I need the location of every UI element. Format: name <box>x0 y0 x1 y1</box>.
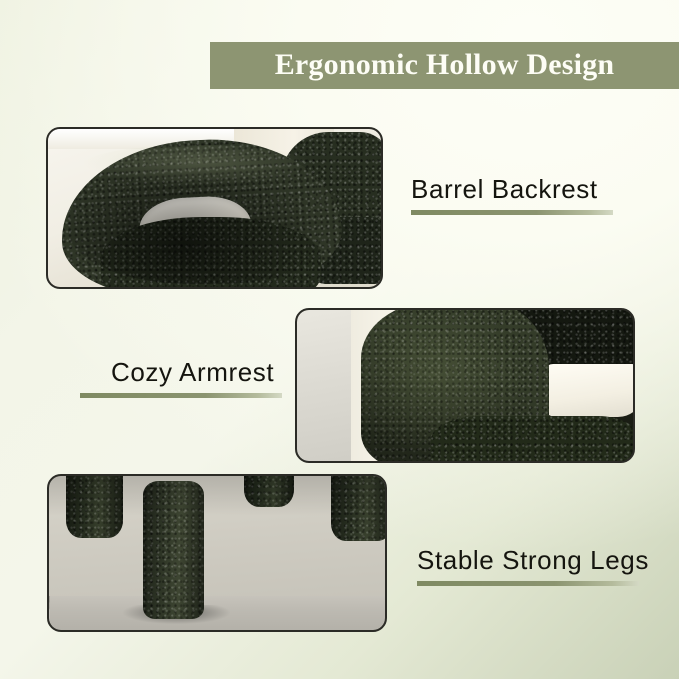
chair-leg-right <box>331 476 385 541</box>
chair-seat-base <box>431 416 633 461</box>
feature-label-text: Barrel Backrest <box>411 175 613 204</box>
photo-scene-armrest <box>297 310 633 461</box>
chair-leg-back-right <box>244 476 294 507</box>
chair-seat <box>101 217 321 287</box>
armrest-hollow-gap <box>539 364 633 417</box>
infographic-canvas: Ergonomic Hollow Design Barrel Backrest <box>0 0 679 679</box>
feature-label-cozy-armrest: Cozy Armrest <box>111 358 282 398</box>
header-band: Ergonomic Hollow Design <box>210 42 679 89</box>
feature-photo-barrel-backrest <box>46 127 383 289</box>
feature-label-barrel-backrest: Barrel Backrest <box>411 175 613 215</box>
chair-leg-front <box>143 481 203 620</box>
page-title: Ergonomic Hollow Design <box>275 50 615 82</box>
feature-label-text: Cozy Armrest <box>111 358 282 387</box>
feature-label-underline <box>80 393 282 398</box>
feature-label-stable-strong-legs: Stable Strong Legs <box>417 546 649 586</box>
photo-scene-backrest <box>48 129 381 287</box>
feature-label-underline <box>411 210 613 215</box>
feature-label-underline <box>417 581 639 586</box>
photo-scene-legs <box>49 476 385 630</box>
feature-photo-stable-strong-legs <box>47 474 387 632</box>
feature-label-text: Stable Strong Legs <box>417 546 649 575</box>
chair-leg-back-left <box>66 476 123 538</box>
feature-photo-cozy-armrest <box>295 308 635 463</box>
